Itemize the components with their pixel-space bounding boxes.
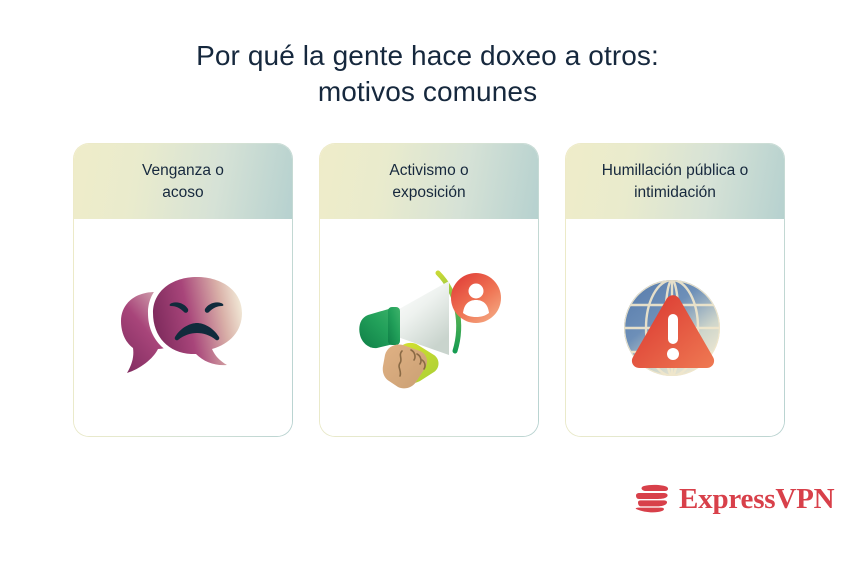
megaphone-with-hand-icon [354,263,504,393]
card-body-2 [320,219,538,436]
page-title-line-2: motivos comunes [0,74,855,110]
card-venganza-o-acoso: Venganza o acoso [73,143,293,437]
card-header-3-line-1: Humillación pública o [602,160,748,182]
large-speech-bubble [148,272,247,371]
card-activismo-o-exposicion: Activismo o exposición [319,143,539,437]
page-title-line-1: Por qué la gente hace doxeo a otros: [0,38,855,74]
page-title: Por qué la gente hace doxeo a otros: mot… [0,38,855,110]
globe-warning-icon [600,263,750,393]
card-humillacion-publica-o-intimidacion: Humillación pública o intimidación [565,143,785,437]
expressvpn-logo: ExpressVPN [634,484,834,514]
card-header-3: Humillación pública o intimidación [566,144,784,219]
angry-speech-bubbles-icon [108,263,258,393]
card-header-2-line-1: Activismo o [389,160,468,182]
card-header-1-line-1: Venganza o [142,160,224,182]
expressvpn-logo-mark [634,484,670,514]
card-header-1: Venganza o acoso [74,144,292,219]
card-body-1 [74,219,292,436]
megaphone-cone [392,281,449,355]
card-header-2: Activismo o exposición [320,144,538,219]
card-header-3-line-2: intimidación [602,182,748,204]
hand-grip [383,342,439,387]
card-body-3 [566,219,784,436]
cards-row: Venganza o acoso [73,143,785,437]
card-header-1-line-2: acoso [142,182,224,204]
expressvpn-logo-text: ExpressVPN [679,485,834,514]
card-header-2-line-2: exposición [389,182,468,204]
user-avatar-icon [451,273,501,323]
